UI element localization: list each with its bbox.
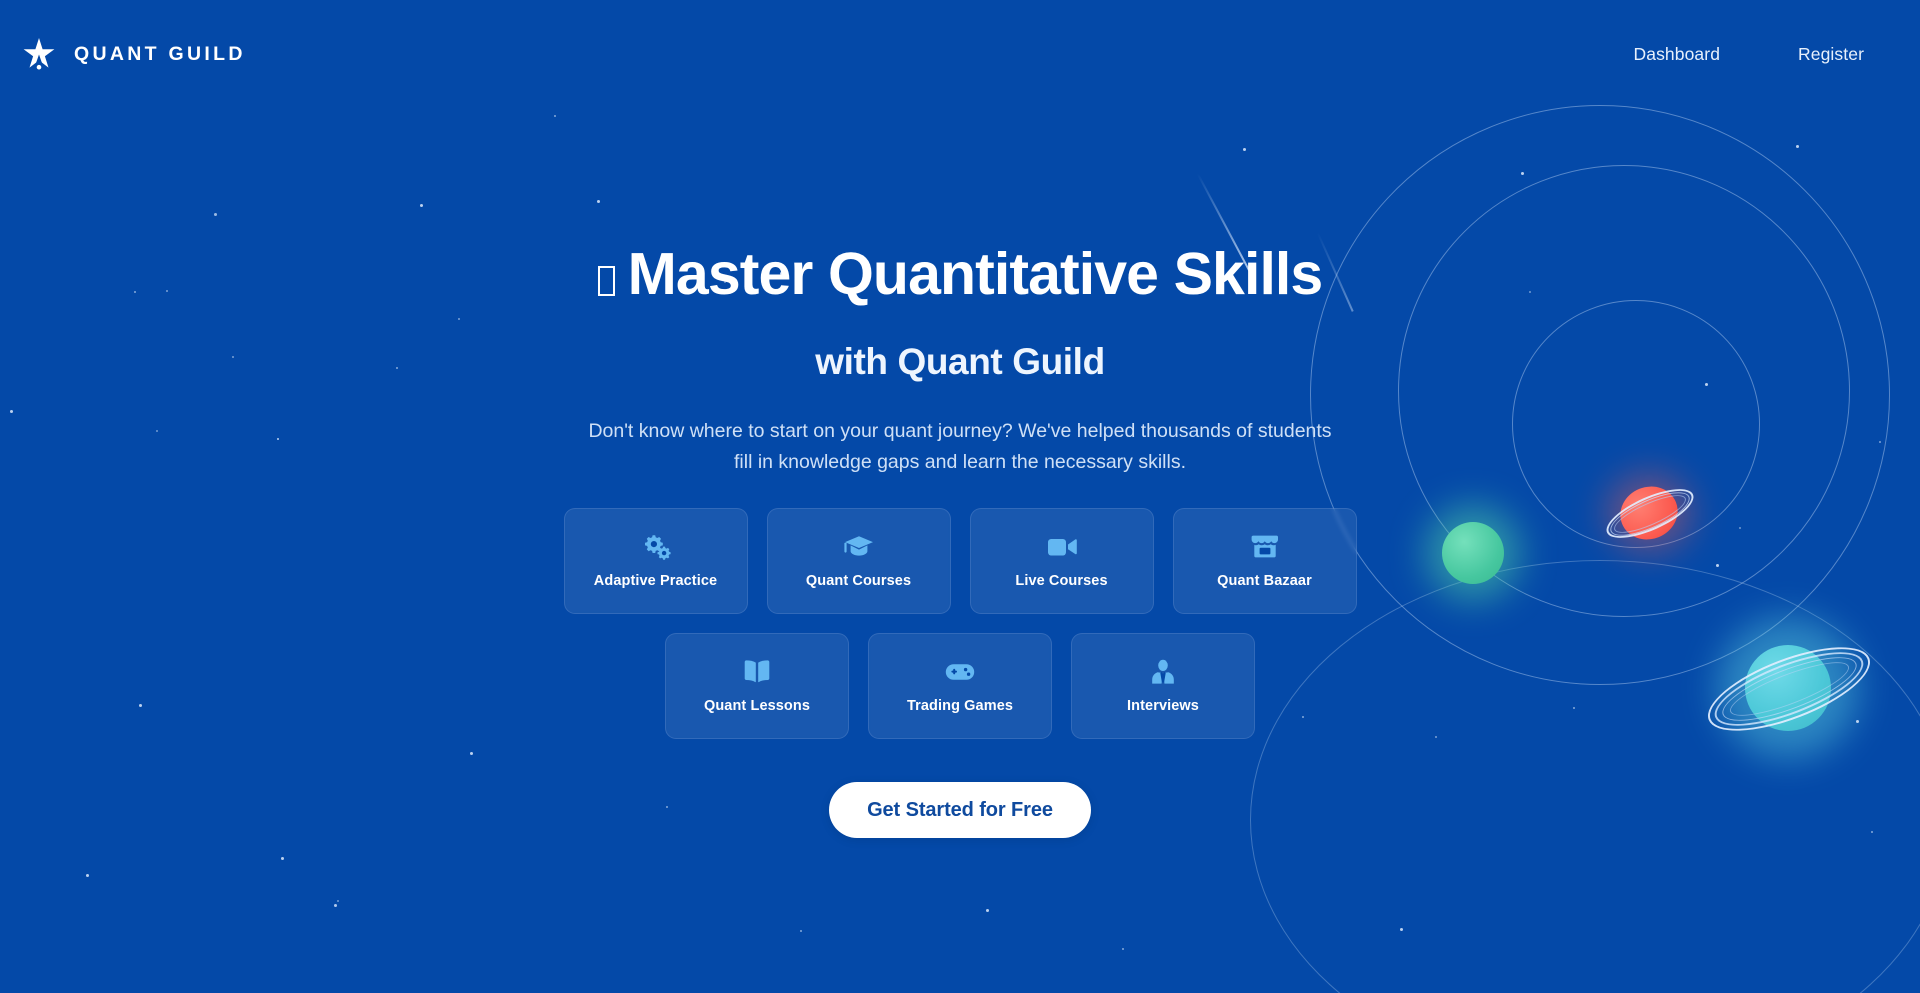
planet-red-ringed xyxy=(1620,487,1678,539)
gamepad-icon xyxy=(944,658,976,685)
star xyxy=(134,291,136,293)
feature-card-adaptive-practice[interactable]: Adaptive Practice xyxy=(564,508,748,614)
star xyxy=(139,704,142,707)
feature-card-row-2: Quant Lessons Trading Games xyxy=(665,633,1255,739)
orbit-ring-middle xyxy=(1398,165,1850,617)
feature-card-label: Live Courses xyxy=(1015,573,1107,589)
feature-card-quant-courses[interactable]: Quant Courses xyxy=(767,508,951,614)
star xyxy=(420,204,423,207)
missing-glyph-icon xyxy=(598,266,615,296)
star xyxy=(1243,148,1246,151)
site-header: QUANT GUILD Dashboard Register xyxy=(0,0,1920,108)
feature-card-interviews[interactable]: Interviews xyxy=(1071,633,1255,739)
graduation-cap-icon xyxy=(843,533,875,560)
hero-description: Don't know where to start on your quant … xyxy=(580,416,1340,478)
star xyxy=(1871,831,1873,833)
comet-streak-secondary-icon xyxy=(1317,232,1353,311)
page-title: Master Quantitative Skills xyxy=(598,243,1323,307)
planet-teal-ring-1 xyxy=(1698,630,1880,748)
page-title-text: Master Quantitative Skills xyxy=(628,241,1323,307)
video-camera-icon xyxy=(1046,533,1078,560)
star xyxy=(334,904,337,907)
feature-card-label: Interviews xyxy=(1127,698,1199,714)
feature-card-live-courses[interactable]: Live Courses xyxy=(970,508,1154,614)
planet-teal-ring-4 xyxy=(1725,652,1854,726)
feature-card-quant-lessons[interactable]: Quant Lessons xyxy=(665,633,849,739)
planet-teal-ring-2 xyxy=(1706,637,1871,740)
star xyxy=(597,200,600,203)
star xyxy=(1122,948,1124,950)
star xyxy=(1435,736,1437,738)
star-logo-icon xyxy=(22,37,56,71)
feature-card-trading-games[interactable]: Trading Games xyxy=(868,633,1052,739)
feature-card-label: Adaptive Practice xyxy=(594,573,717,589)
planet-teal-ringed xyxy=(1745,645,1831,731)
brand-logo[interactable]: QUANT GUILD xyxy=(22,37,246,71)
star xyxy=(554,115,556,117)
star xyxy=(156,430,158,432)
star xyxy=(1705,383,1708,386)
star xyxy=(10,410,13,413)
feature-card-grid: Adaptive Practice Quant Courses xyxy=(564,508,1357,739)
space-background xyxy=(0,0,1920,993)
star xyxy=(1400,928,1403,931)
person-tie-icon xyxy=(1147,658,1179,685)
star xyxy=(1573,707,1575,709)
star xyxy=(281,857,284,860)
star xyxy=(214,213,217,216)
feature-card-label: Quant Courses xyxy=(806,573,911,589)
star xyxy=(1879,441,1881,443)
nav-link-register[interactable]: Register xyxy=(1798,44,1864,65)
star xyxy=(86,874,89,877)
star xyxy=(337,900,339,902)
star xyxy=(1529,291,1531,293)
star xyxy=(1856,720,1859,723)
orbit-ring-outer xyxy=(1310,105,1890,685)
gears-icon xyxy=(640,533,672,560)
planet-red-ring-2 xyxy=(1605,484,1695,545)
star xyxy=(396,367,398,369)
star xyxy=(800,930,802,932)
planet-red-ring-3 xyxy=(1610,488,1690,540)
hero-section: Master Quantitative Skills with Quant Gu… xyxy=(0,0,1920,993)
feature-card-label: Quant Bazaar xyxy=(1217,573,1312,589)
star xyxy=(986,909,989,912)
open-book-icon xyxy=(741,658,773,685)
star xyxy=(1521,172,1524,175)
planet-teal-ring-3 xyxy=(1716,645,1864,734)
star xyxy=(1796,145,1799,148)
planet-green xyxy=(1442,522,1504,584)
star xyxy=(666,806,668,808)
nav-link-dashboard[interactable]: Dashboard xyxy=(1634,44,1721,65)
orbit-ring-inner xyxy=(1512,300,1760,548)
hero-subtitle: with Quant Guild xyxy=(815,341,1105,383)
planet-red-ring-1 xyxy=(1600,479,1699,547)
star xyxy=(1739,527,1741,529)
feature-card-quant-bazaar[interactable]: Quant Bazaar xyxy=(1173,508,1357,614)
star xyxy=(277,438,279,440)
star xyxy=(458,318,460,320)
star xyxy=(470,752,473,755)
feature-card-label: Trading Games xyxy=(907,698,1013,714)
feature-card-label: Quant Lessons xyxy=(704,698,810,714)
get-started-button[interactable]: Get Started for Free xyxy=(829,782,1091,838)
page-root: QUANT GUILD Dashboard Register Master Qu… xyxy=(0,0,1920,993)
feature-card-row-1: Adaptive Practice Quant Courses xyxy=(564,508,1357,614)
star xyxy=(1716,564,1719,567)
star xyxy=(166,290,168,292)
main-nav: Dashboard Register xyxy=(1634,44,1864,65)
storefront-icon xyxy=(1249,533,1281,560)
star xyxy=(232,356,234,358)
brand-name: QUANT GUILD xyxy=(74,43,246,66)
